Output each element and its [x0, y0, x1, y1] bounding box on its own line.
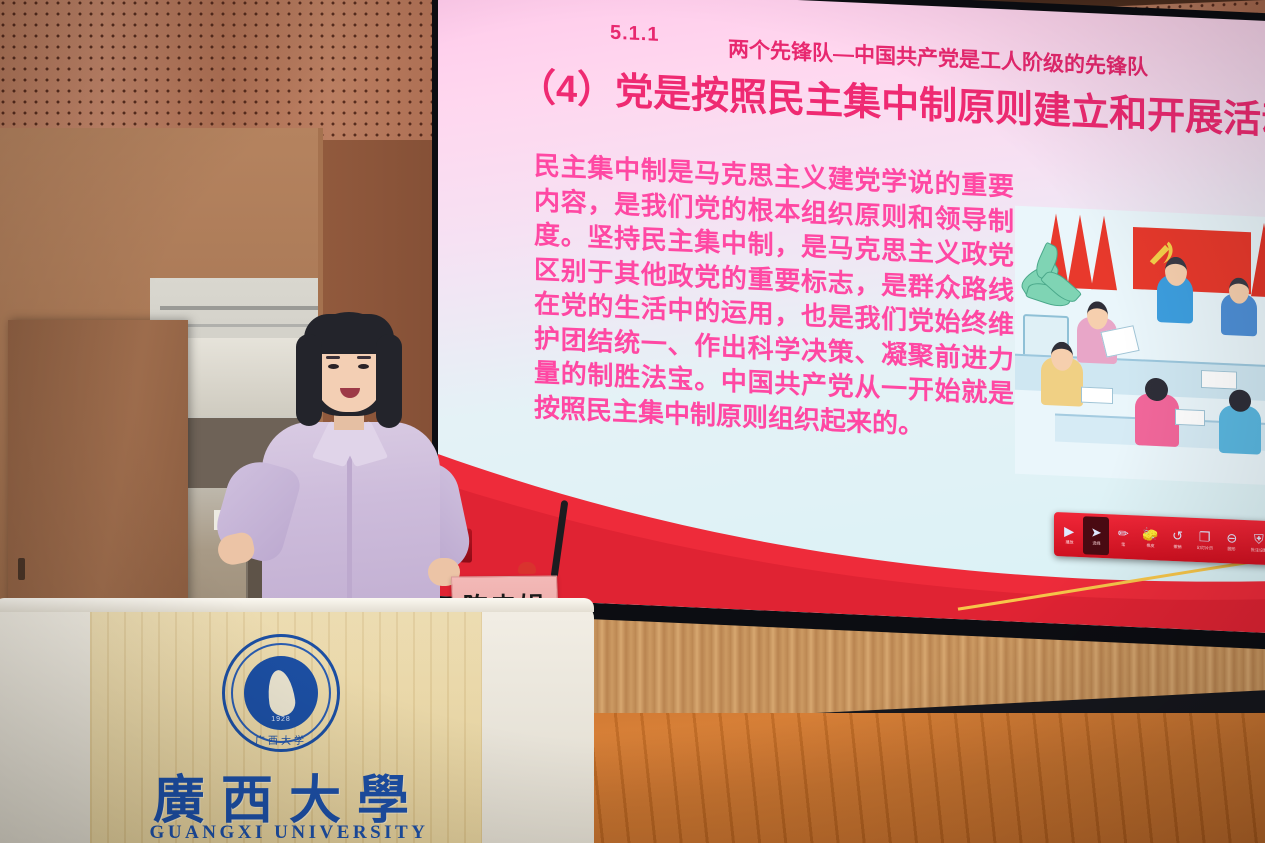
slide-body-text: 民主集中制是马克思主义建党学说的重要内容，是我们党的根本组织原则和领导制度。坚持…	[534, 148, 1014, 446]
open-book	[1175, 409, 1205, 426]
cursor-select-icon: ➤	[1091, 525, 1102, 538]
microphone-button[interactable]	[518, 562, 536, 574]
seal-chinese-name: 广西大学	[222, 732, 340, 747]
undo-button[interactable]: ↺ 撤销	[1165, 520, 1191, 559]
seal-dot	[276, 704, 288, 716]
eraser-tool-button[interactable]: 🧽 橡皮	[1137, 518, 1163, 557]
podium: 1928 广西大学 廣西大學 GUANGXI UNIVERSITY	[0, 598, 594, 843]
person-seated-body	[1219, 405, 1261, 455]
play-button[interactable]: ▶ 播放	[1056, 515, 1082, 554]
select-tool-label: 选择	[1092, 540, 1100, 546]
presenter-hair-left	[296, 334, 322, 426]
annotation-settings-button[interactable]: ⛨ 批注设置	[1246, 523, 1265, 562]
shield-icon: ⛨	[1254, 532, 1264, 545]
podium-left-panel	[0, 608, 94, 843]
university-seal: 1928 广西大学	[222, 634, 340, 752]
pen-icon: ✏	[1118, 526, 1129, 539]
annotation-settings-label: 批注设置	[1251, 547, 1265, 553]
acoustic-panel-left	[0, 0, 470, 140]
red-flag-triangle	[1067, 214, 1093, 289]
person-seated-head	[1229, 389, 1251, 412]
person-standing-head	[1165, 256, 1187, 286]
pages-label: 幻灯片页	[1197, 545, 1213, 551]
open-book	[1201, 370, 1237, 390]
podium-top-surface	[0, 598, 594, 612]
corridor-railing	[160, 306, 318, 310]
pages-button[interactable]: ❐ 幻灯片页	[1192, 521, 1218, 560]
presenter-eyebrow	[357, 356, 371, 359]
person-seated-body	[1135, 393, 1179, 447]
pages-icon: ❐	[1199, 530, 1211, 543]
select-tool-button[interactable]: ➤ 选择	[1083, 516, 1109, 555]
undo-icon: ↺	[1172, 528, 1183, 541]
red-flag-triangle	[1251, 222, 1265, 297]
seal-year: 1928	[222, 716, 340, 723]
open-book	[1081, 387, 1113, 404]
eraser-tool-label: 橡皮	[1146, 543, 1154, 549]
person-seated-head	[1145, 377, 1168, 401]
shape-circle-button[interactable]: ⊖ 圆形	[1219, 522, 1245, 561]
circle-tool-icon: ⊖	[1226, 531, 1237, 544]
red-flag-triangle	[1091, 215, 1117, 290]
slide-section-number: 5.1.1	[610, 22, 659, 47]
presenter	[216, 312, 476, 612]
eraser-icon: 🧽	[1142, 527, 1158, 541]
person-seated-head	[1229, 277, 1249, 304]
lecture-hall-scene: 5.1.1 两个先锋队—中国共产党是工人阶级的先锋队 （4）党是按照民主集中制原…	[0, 0, 1265, 843]
annotation-toolbar[interactable]: ▶ 播放 ➤ 选择 ✏ 笔 🧽 橡皮 ↺ 撤销 ❐ 幻灯片页 ⊖ 圆形 ⛨ 批	[1054, 512, 1265, 565]
play-icon: ▶	[1064, 524, 1074, 537]
presenter-eye	[358, 364, 369, 369]
pen-tool-button[interactable]: ✏ 笔	[1110, 517, 1136, 556]
shape-circle-label: 圆形	[1228, 546, 1236, 552]
door-hinge	[18, 558, 25, 580]
person-seated-head	[1051, 341, 1073, 371]
slide-illustration	[1015, 206, 1265, 485]
presenter-eye	[328, 364, 339, 369]
document-sheet	[1100, 325, 1139, 357]
pen-tool-label: 笔	[1121, 542, 1125, 548]
shirt-placket	[347, 452, 352, 618]
podium-right-panel	[478, 604, 594, 843]
person-seated-head	[1087, 301, 1108, 330]
presenter-hair-right	[376, 334, 402, 428]
undo-label: 撤销	[1174, 544, 1182, 550]
presenter-eyebrow	[326, 356, 340, 359]
play-label: 播放	[1065, 539, 1073, 545]
university-name-en: GUANGXI UNIVERSITY	[144, 822, 434, 843]
